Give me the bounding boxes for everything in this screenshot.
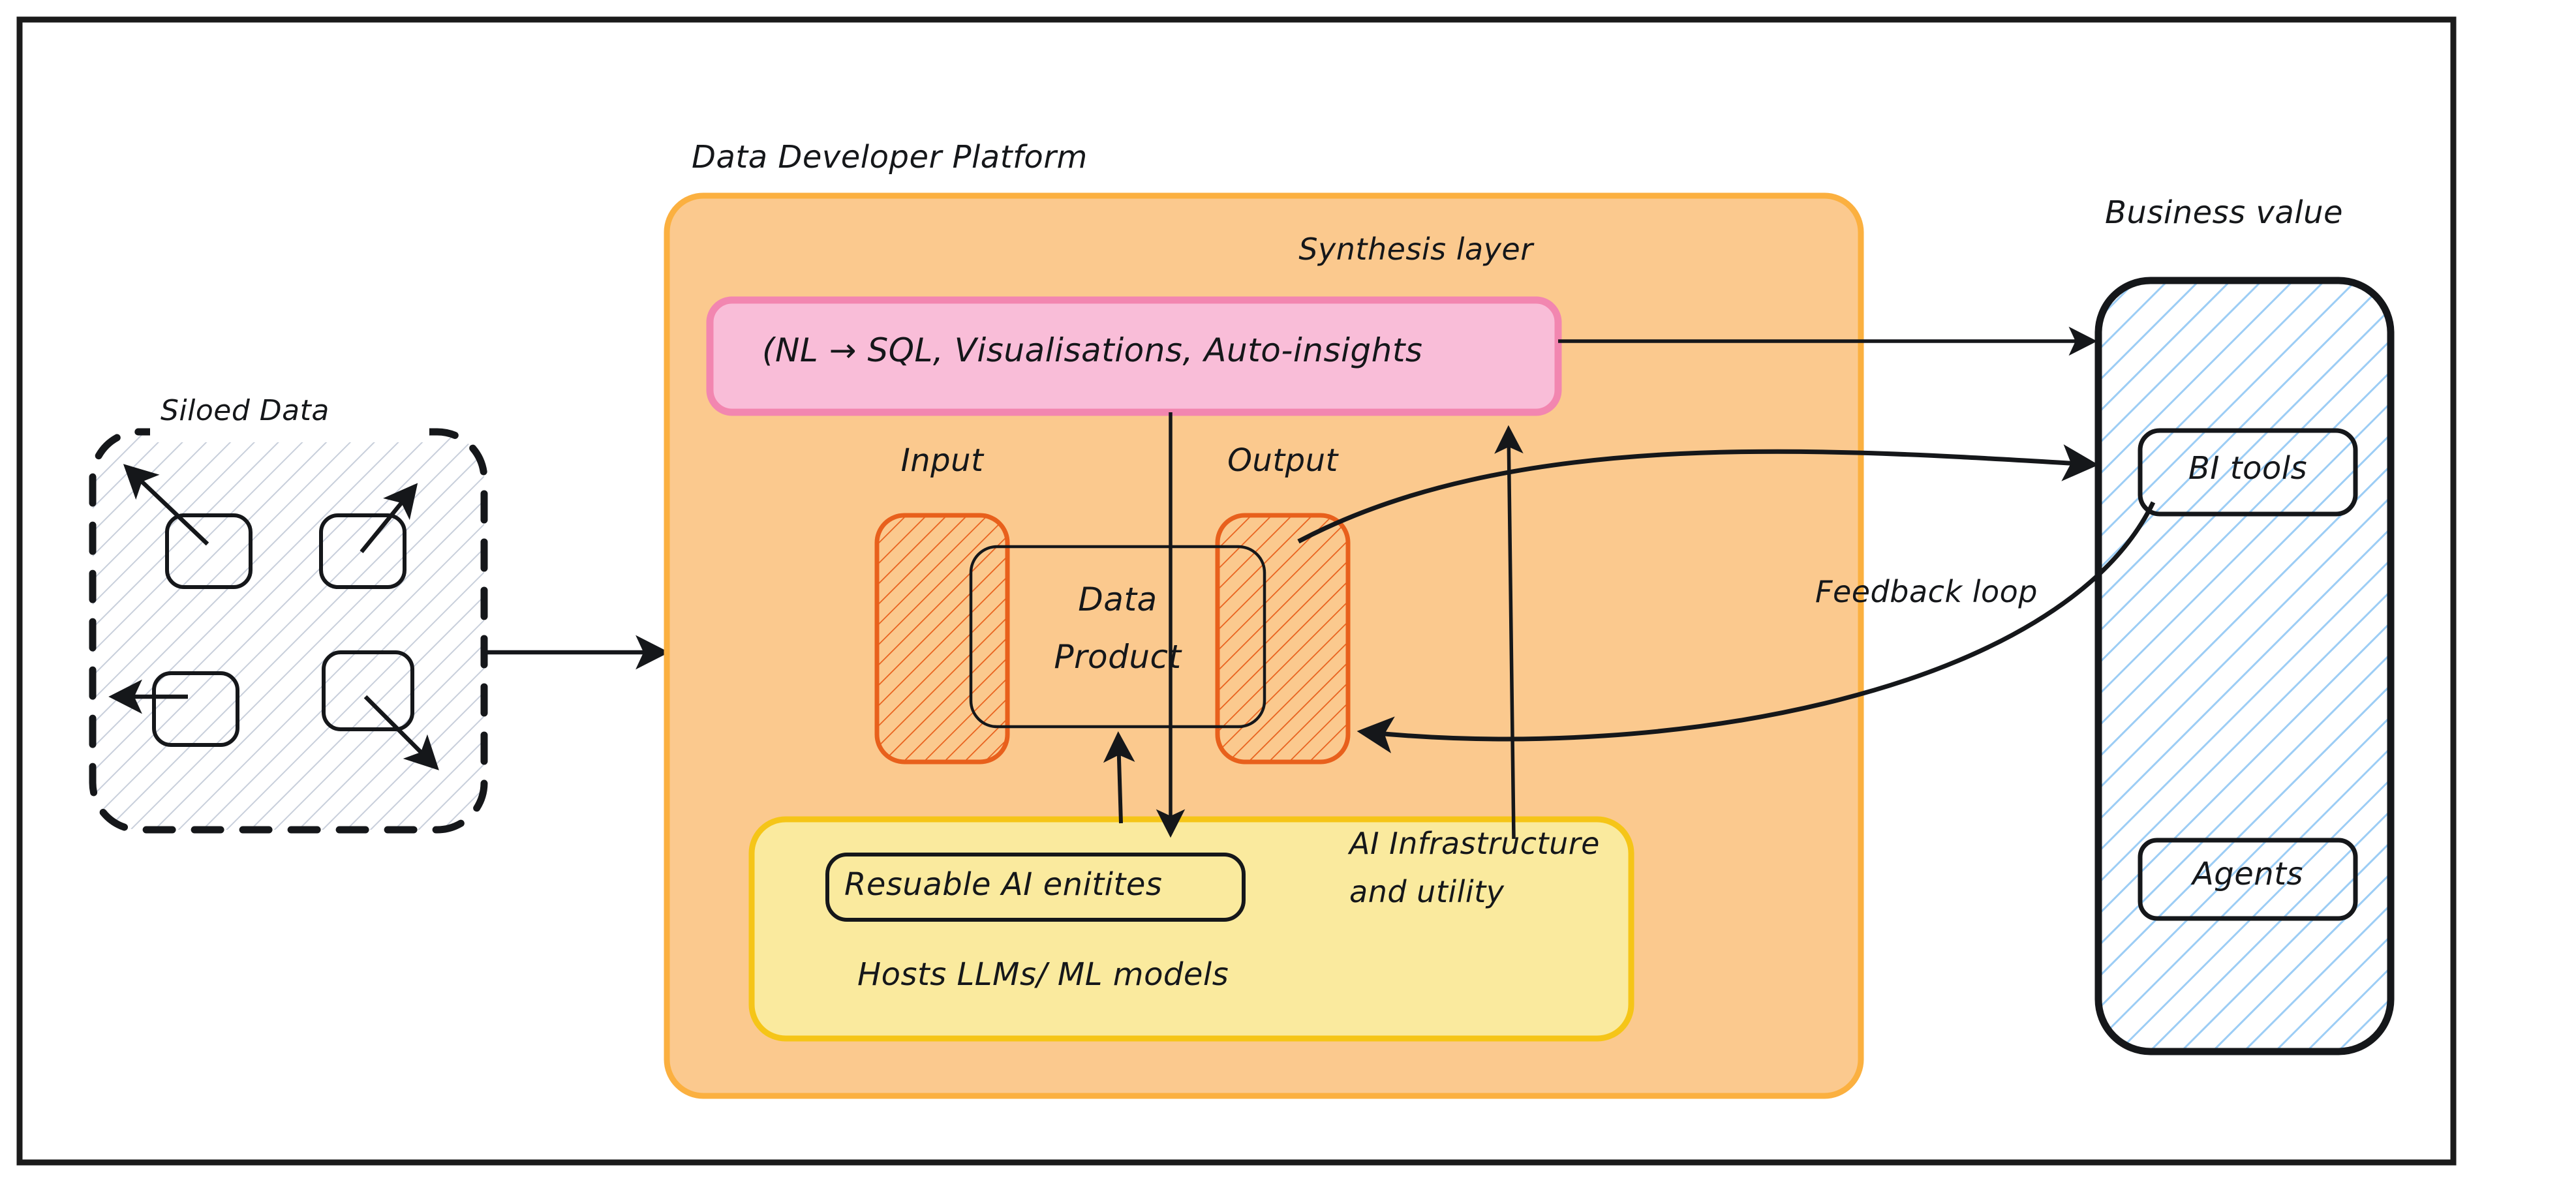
agents-label: Agents xyxy=(2140,856,2355,893)
business-value-box xyxy=(2098,280,2391,1052)
siloed-data-label: Siloed Data xyxy=(161,394,330,428)
data-product-label-line1: Data xyxy=(971,581,1265,619)
platform-title: Data Developer Platform xyxy=(692,139,1088,176)
diagram-vector-layer xyxy=(0,0,2576,1182)
hosts-llms-label: Hosts LLMs/ ML models xyxy=(857,956,1229,993)
diagram-canvas: Siloed Data Data Developer Platform Synt… xyxy=(0,0,2576,1182)
feedback-loop-label: Feedback loop xyxy=(1815,574,2038,609)
ai-infrastructure-label-line1: AI Infrastructure xyxy=(1349,826,1600,861)
ai-layer-to-data-product-arrow xyxy=(1118,737,1121,823)
synthesis-layer-label: Synthesis layer xyxy=(1259,232,1572,267)
input-label: Input xyxy=(864,442,1020,479)
output-label: Output xyxy=(1204,442,1361,479)
synthesis-box-text: (NL → SQL, Visualisations, Auto-insights xyxy=(762,331,1422,370)
business-value-title: Business value xyxy=(2105,194,2343,232)
reusable-ai-entities-label: Resuable AI enitites xyxy=(844,866,1162,903)
ai-infrastructure-label-line2: and utility xyxy=(1349,874,1504,909)
bi-tools-label: BI tools xyxy=(2140,450,2355,487)
data-product-label-line2: Product xyxy=(971,638,1265,676)
